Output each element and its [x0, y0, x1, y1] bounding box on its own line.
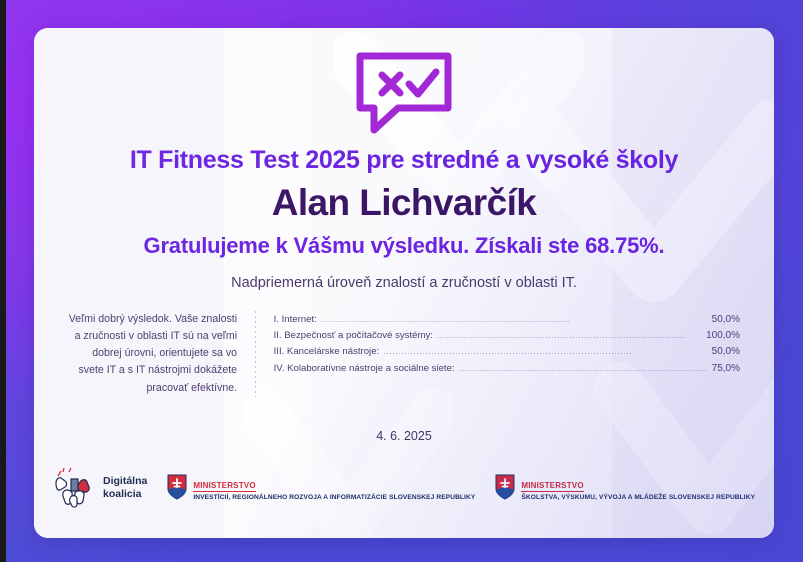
score-label: IV. Kolaboratívne nástroje a sociálne si…	[274, 361, 455, 377]
slovak-coat-of-arms-icon	[495, 474, 515, 500]
logo-ministry-investments: MINISTERSTVO INVESTÍCIÍ, REGIONÁLNEHO RO…	[167, 474, 475, 503]
score-row: II. Bezpečnosť a počítačové systémy: ...…	[274, 328, 740, 344]
ministry-text: MINISTERSTVO INVESTÍCIÍ, REGIONÁLNEHO RO…	[193, 474, 475, 503]
score-leader: ........................................…	[459, 361, 708, 376]
score-leader: ........................................…	[321, 312, 708, 327]
chevron-watermark-icon	[594, 328, 774, 538]
logo-digitalna-koalicia: Digitálna koalicia	[54, 468, 147, 508]
score-list: I. Internet: ...........................…	[256, 311, 740, 377]
certificate-card: IT Fitness Test 2025 pre stredné a vysok…	[34, 28, 774, 538]
score-leader: ........................................…	[437, 328, 702, 343]
score-value: 100,0%	[706, 328, 740, 344]
ministry-heading: MINISTERSTVO	[193, 481, 255, 492]
ministry-text: MINISTERSTVO ŠKOLSTVA, VÝSKUMU, VÝVOJA A…	[521, 474, 755, 503]
score-row: I. Internet: ...........................…	[274, 312, 740, 328]
score-row: IV. Kolaboratívne nástroje a sociálne si…	[274, 361, 740, 377]
slovak-coat-of-arms-icon	[167, 474, 187, 500]
partner-logo-strip: Digitálna koalicia MINISTERSTVO INVESTÍC…	[46, 462, 762, 514]
chevron-watermark-icon	[244, 358, 454, 538]
issue-date: 4. 6. 2025	[376, 429, 432, 443]
page-title: IT Fitness Test 2025 pre stredné a vysok…	[130, 146, 678, 175]
card-band	[224, 28, 312, 538]
ministry-body: INVESTÍCIÍ, REGIONÁLNEHO ROZVOJA A INFOR…	[193, 493, 475, 502]
score-label: III. Kancelárske nástroje:	[274, 344, 380, 360]
card-band	[312, 28, 612, 538]
dk-line-1: Digitálna	[103, 475, 147, 488]
score-value: 75,0%	[712, 361, 740, 377]
dk-line-2: koalicia	[103, 488, 147, 501]
result-headline: Gratulujeme k Vášmu výsledku. Získali st…	[144, 233, 665, 259]
chevron-watermark-icon	[504, 58, 774, 348]
card-band	[34, 28, 224, 538]
score-row: III. Kancelárske nástroje: .............…	[274, 344, 740, 360]
digitalna-koalicia-text: Digitálna koalicia	[103, 475, 147, 501]
score-leader: ........................................…	[383, 344, 707, 359]
summary-text: Veľmi dobrý výsledok. Vaše znalosti a zr…	[68, 311, 255, 397]
score-value: 50,0%	[712, 312, 740, 328]
speech-bubble-cross-check-icon	[352, 50, 456, 136]
card-band	[612, 28, 774, 538]
score-value: 50,0%	[712, 344, 740, 360]
raised-hands-logo-icon	[54, 468, 96, 508]
score-label: II. Bezpečnosť a počítačové systémy:	[274, 328, 433, 344]
candidate-name: Alan Lichvarčík	[272, 182, 537, 224]
logo-ministry-education: MINISTERSTVO ŠKOLSTVA, VÝSKUMU, VÝVOJA A…	[495, 474, 755, 503]
score-label: I. Internet:	[274, 312, 317, 328]
ministry-heading: MINISTERSTVO	[521, 481, 583, 492]
detail-section: Veľmi dobrý výsledok. Vaše znalosti a zr…	[68, 311, 740, 397]
chevron-watermark-icon	[334, 28, 584, 248]
certificate-backdrop: IT Fitness Test 2025 pre stredné a vysok…	[6, 0, 803, 562]
ministry-body: ŠKOLSTVA, VÝSKUMU, VÝVOJA A MLÁDEŽE SLOV…	[521, 493, 755, 502]
column-divider	[255, 311, 256, 397]
level-description: Nadpriemerná úroveň znalostí a zručností…	[231, 275, 577, 291]
